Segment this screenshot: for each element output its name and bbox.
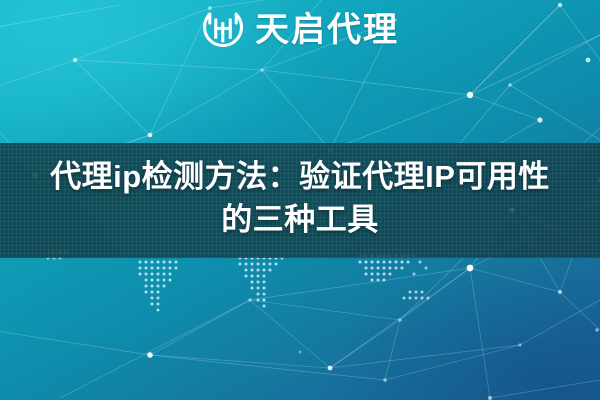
brand-lockup: 天启代理 xyxy=(0,8,600,52)
promo-banner: 天启代理 代理ip检测方法：验证代理IP可用性 的三种工具 xyxy=(0,0,600,400)
page-title: 代理ip检测方法：验证代理IP可用性 的三种工具 xyxy=(0,155,600,241)
brand-name: 天启代理 xyxy=(255,8,399,52)
page-title-line-1: 代理ip检测方法：验证代理IP可用性 xyxy=(0,155,600,198)
page-title-line-2: 的三种工具 xyxy=(0,198,600,241)
circular-monogram-logo-icon xyxy=(201,8,245,52)
